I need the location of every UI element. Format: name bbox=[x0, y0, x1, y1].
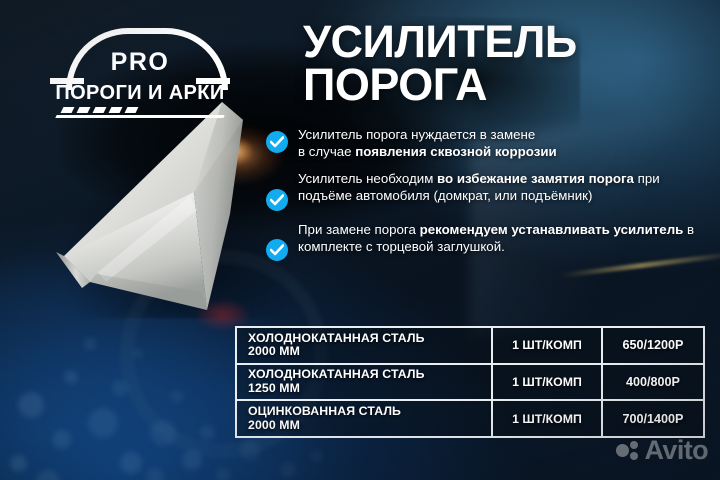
bokeh-dot bbox=[10, 455, 27, 472]
table-row: ХОЛОДНОКАТАННАЯ СТАЛЬ 2000 ММ 1 ШТ/КОМП … bbox=[237, 328, 703, 363]
bokeh-dot bbox=[18, 392, 44, 418]
bokeh-dot bbox=[64, 370, 78, 384]
bokeh-dot bbox=[170, 390, 183, 403]
bokeh-dot bbox=[280, 462, 296, 478]
cell-quantity: 1 ШТ/КОМП bbox=[491, 328, 601, 363]
avito-brand-text: Avito bbox=[645, 435, 709, 466]
bokeh-dot bbox=[240, 440, 260, 460]
material-name: ХОЛОДНОКАТАННАЯ СТАЛЬ bbox=[248, 368, 491, 382]
bokeh-dot bbox=[150, 420, 176, 446]
list-item-text: Усилитель необходим во избежание замятия… bbox=[298, 171, 716, 204]
material-name: ОЦИНКОВАННАЯ СТАЛЬ bbox=[248, 405, 491, 419]
bokeh-dot bbox=[146, 468, 164, 480]
cell-material: ОЦИНКОВАННАЯ СТАЛЬ 2000 ММ bbox=[237, 401, 491, 436]
list-item-text: Усилитель порога нуждается в заменев слу… bbox=[298, 127, 557, 160]
cell-material: ХОЛОДНОКАТАННАЯ СТАЛЬ 2000 ММ bbox=[237, 328, 491, 363]
bokeh-dot bbox=[310, 450, 323, 463]
avito-watermark: Avito bbox=[616, 435, 709, 466]
table-row: ОЦИНКОВАННАЯ СТАЛЬ 2000 ММ 1 ШТ/КОМП 700… bbox=[237, 399, 703, 436]
bokeh-dot bbox=[182, 450, 202, 470]
bokeh-dot bbox=[216, 468, 230, 480]
bokeh-dot bbox=[52, 430, 71, 449]
list-item: Усилитель порога нуждается в заменев слу… bbox=[266, 127, 716, 160]
cell-price: 400/800Р bbox=[601, 365, 703, 400]
spec-table: ХОЛОДНОКАТАННАЯ СТАЛЬ 2000 ММ 1 ШТ/КОМП … bbox=[235, 326, 705, 438]
logo-pro-text: PRO bbox=[42, 48, 238, 77]
avito-dots-icon bbox=[616, 439, 642, 463]
product-image bbox=[0, 96, 256, 318]
logo-subtitle: ПОРОГИ И АРКИ bbox=[42, 82, 238, 105]
title-line-2: ПОРОГА bbox=[303, 63, 703, 106]
bokeh-dot bbox=[84, 338, 96, 350]
cell-quantity: 1 ШТ/КОМП bbox=[491, 401, 601, 436]
list-item: Усилитель необходим во избежание замятия… bbox=[266, 171, 716, 211]
bokeh-dot bbox=[200, 425, 215, 440]
bokeh-dot bbox=[112, 380, 128, 396]
cell-quantity: 1 ШТ/КОМП bbox=[491, 365, 601, 400]
road-line-icon bbox=[56, 107, 224, 119]
feature-list: Усилитель порога нуждается в заменев слу… bbox=[266, 127, 716, 261]
bokeh-dot bbox=[120, 452, 142, 474]
cell-material: ХОЛОДНОКАТАННАЯ СТАЛЬ 1250 ММ bbox=[237, 365, 491, 400]
material-length: 1250 ММ bbox=[248, 382, 491, 396]
material-length: 2000 ММ bbox=[248, 419, 491, 433]
check-circle-icon bbox=[266, 239, 288, 261]
table-row: ХОЛОДНОКАТАННАЯ СТАЛЬ 1250 ММ 1 ШТ/КОМП … bbox=[237, 363, 703, 400]
promo-banner: PRO ПОРОГИ И АРКИ УСИЛИТЕЛЬ ПОРОГА Усили… bbox=[0, 0, 720, 480]
list-item-text: При замене порога рекомендуем устанавлив… bbox=[298, 222, 716, 255]
bokeh-dot bbox=[132, 348, 143, 359]
bokeh-dot bbox=[88, 408, 118, 438]
page-title: УСИЛИТЕЛЬ ПОРОГА bbox=[303, 20, 703, 106]
list-item: При замене порога рекомендуем устанавлив… bbox=[266, 222, 716, 261]
title-line-1: УСИЛИТЕЛЬ bbox=[303, 20, 703, 63]
check-circle-icon bbox=[266, 131, 288, 153]
cell-price: 700/1400Р bbox=[601, 401, 703, 436]
material-length: 2000 ММ bbox=[248, 345, 491, 359]
check-circle-icon bbox=[266, 189, 288, 211]
cell-price: 650/1200Р bbox=[601, 328, 703, 363]
brand-logo: PRO ПОРОГИ И АРКИ bbox=[42, 28, 238, 120]
